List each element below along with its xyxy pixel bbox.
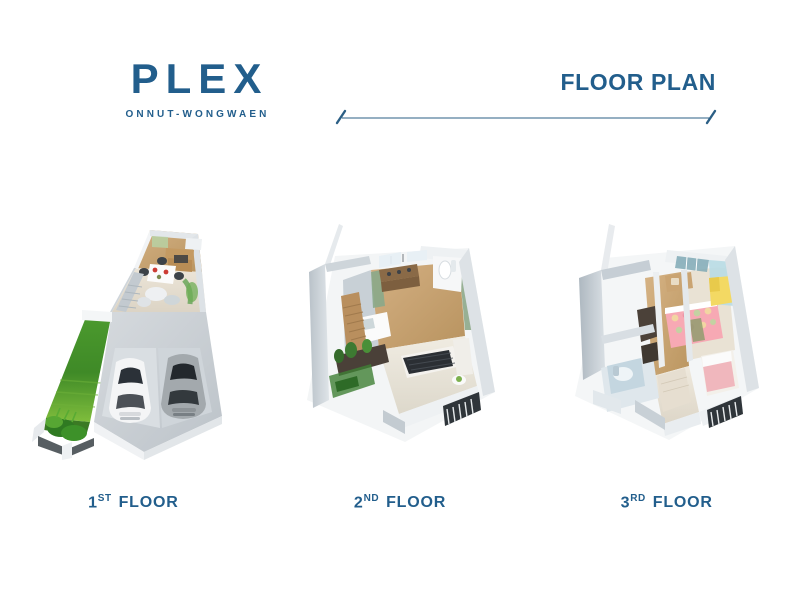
floor-ordinal-2: ND	[364, 493, 379, 504]
brand-name: PLEX	[96, 58, 296, 100]
second-floor-3d-plan[interactable]	[283, 160, 518, 460]
third-floor-illustration	[549, 160, 784, 460]
floor-plan-page: PLEX ONNUT-WONGWAEN FLOOR PLAN	[0, 0, 800, 600]
floor-ordinal-1: ST	[98, 493, 112, 504]
floor-word-1: FLOOR	[119, 494, 179, 511]
car-white	[109, 358, 151, 423]
second-floor-illustration	[283, 160, 518, 460]
second-bed	[701, 350, 739, 396]
floor-label-2: 2NDFLOOR	[354, 493, 446, 512]
title-block: FLOOR PLAN	[336, 70, 716, 125]
floor-number-2: 2	[354, 494, 364, 511]
floor-card-2[interactable]: 2NDFLOOR	[267, 160, 534, 540]
third-floor-3d-plan[interactable]	[549, 160, 784, 460]
brand-subtitle: ONNUT-WONGWAEN	[96, 109, 296, 120]
first-floor-illustration	[16, 160, 251, 460]
floor-card-1[interactable]: 1STFLOOR	[0, 160, 267, 540]
floor-plan-gallery: 1STFLOOR	[0, 160, 800, 540]
floor-card-3[interactable]: 3RDFLOOR	[533, 160, 800, 540]
brand-logo: PLEX ONNUT-WONGWAEN	[96, 58, 296, 120]
floor-number-1: 1	[88, 494, 98, 511]
floor-word-3: FLOOR	[653, 494, 713, 511]
page-title: FLOOR PLAN	[336, 70, 716, 95]
floor-label-1: 1STFLOOR	[88, 493, 178, 512]
double-tick-rule-icon	[336, 107, 716, 125]
first-floor-3d-plan[interactable]	[16, 160, 251, 460]
floor-label-3: 3RDFLOOR	[621, 493, 713, 512]
title-divider	[336, 107, 716, 125]
floor-ordinal-3: RD	[630, 493, 645, 504]
floor-word-2: FLOOR	[386, 494, 446, 511]
floor-number-3: 3	[621, 494, 631, 511]
